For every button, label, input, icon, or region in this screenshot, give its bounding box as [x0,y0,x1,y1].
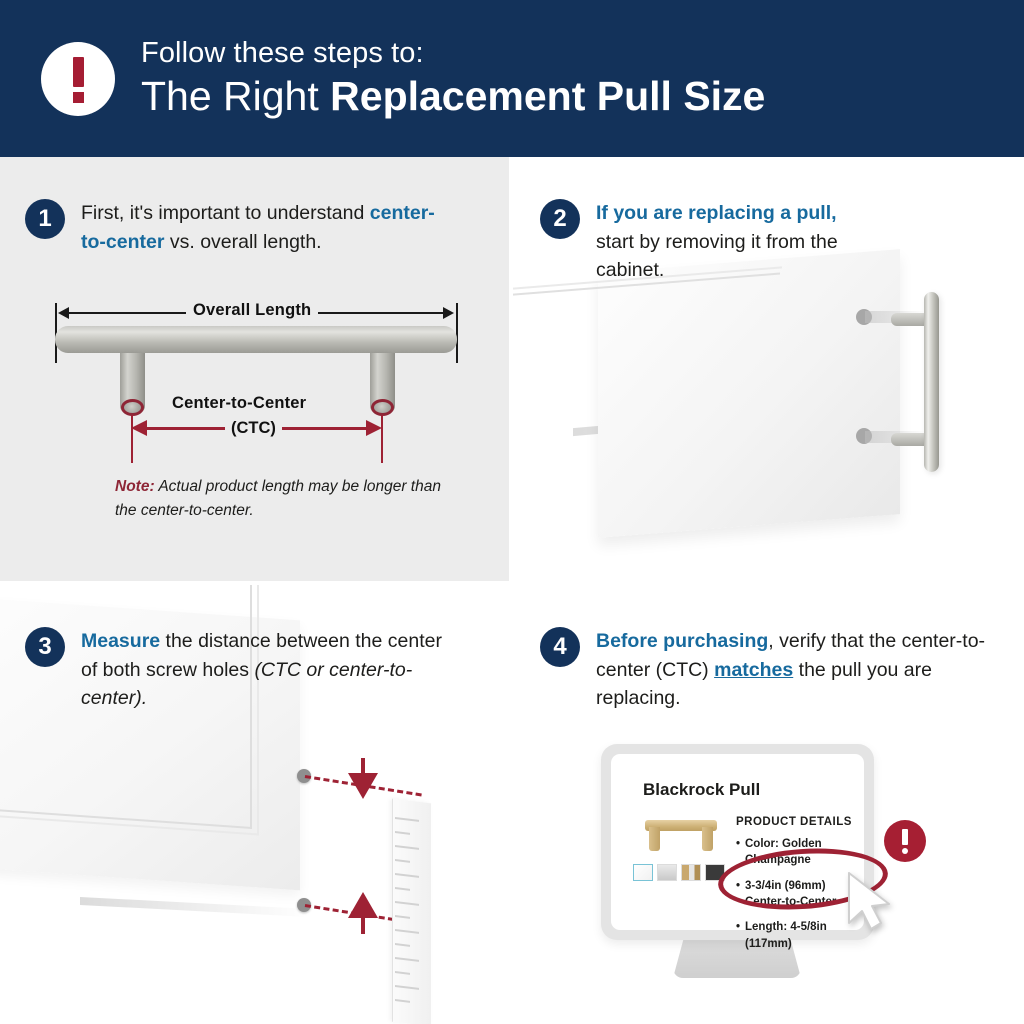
measure-arrow-bottom-head [348,892,378,918]
measure-arrow-top-head [348,773,378,799]
pull-bar-2 [924,292,939,472]
overall-right-arrowhead [443,307,454,319]
product-thumbnail-3[interactable] [681,864,701,881]
step-2-text: If you are replacing a pull, start by re… [596,199,840,285]
header-kicker: Follow these steps to: [141,37,1024,70]
product-image[interactable] [637,814,725,856]
alert-exclamation-icon [884,820,926,862]
alert-exclamation-icon [41,42,115,116]
step-3-text: Measure the distance between the center … [81,627,455,713]
ruler [392,799,431,1024]
screw-hole-right [371,399,394,416]
ctc-left-arrowhead [131,420,147,436]
panel-1-note: Note: Actual product length may be longe… [115,475,445,522]
headline-light: The Right [141,73,330,119]
cabinet-door-2 [598,249,900,538]
product-details-heading: PRODUCT DETAILS [736,816,852,828]
product-thumbnail-2[interactable] [657,864,677,881]
door-ghost-edge-3 [80,897,310,917]
ctc-right-arrowhead [366,420,382,436]
step-2-highlight: If you are replacing a pull, [596,202,837,224]
overall-left-arrowhead [58,307,69,319]
header-banner: Follow these steps to: The Right Replace… [0,0,1024,157]
product-thumbnail-1[interactable] [633,864,653,881]
step-4-link[interactable]: matches [714,659,793,681]
note-body: Actual product length may be longer than… [115,478,441,519]
measure-arrow-bottom-stem [361,916,365,934]
screw-hole-left [121,399,144,416]
product-detail-item: Length: 4-5/8in (117mm) [736,919,858,952]
infographic-page: Follow these steps to: The Right Replace… [0,0,1024,1024]
door-inset-inner-2 [513,273,780,524]
step-panel-1: 1 First, it's important to understand ce… [0,157,509,581]
ctc-abbrev-label: (CTC) [225,419,282,438]
product-pull-leg-left [649,827,660,851]
headline-bold: Replacement Pull Size [330,73,765,119]
overall-length-label: Overall Length [186,301,318,320]
product-title: Blackrock Pull [643,780,760,800]
page-title: The Right Replacement Pull Size [141,74,1024,120]
step-2-badge: 2 [540,199,580,239]
step-panel-3: 3 Measure the distance between the cente… [0,585,509,1024]
mouse-pointer-icon [845,871,897,933]
step-4-text: Before purchasing, verify that the cente… [596,627,990,713]
step-4-badge: 4 [540,627,580,667]
pull-bar [55,326,457,353]
step-2-header: 2 If you are replacing a pull, start by … [540,199,840,285]
note-prefix: Note: [115,478,155,495]
step-4-header: 4 Before purchasing, verify that the cen… [540,627,990,713]
monitor: Blackrock Pull PRODUCT DETAILS Color: Go… [601,744,874,940]
overall-right-endcap [456,303,458,363]
step-3-badge: 3 [25,627,65,667]
step-4-highlight: Before purchasing [596,630,768,652]
step-2-text-after: start by removing it from the cabinet. [596,231,838,282]
step-3-header: 3 Measure the distance between the cente… [25,627,455,713]
step-3-highlight: Measure [81,630,160,652]
pull-dimension-diagram: Overall Length Center-to-Center (CTC) No… [0,157,509,581]
product-thumbnail-strip[interactable] [633,864,725,881]
header-text-block: Follow these steps to: The Right Replace… [141,37,1024,120]
ctc-label: Center-to-Center [172,394,306,413]
step-panel-2: 2 If you are replacing a pull, start by … [513,157,1024,581]
product-pull-leg-right [702,827,713,851]
